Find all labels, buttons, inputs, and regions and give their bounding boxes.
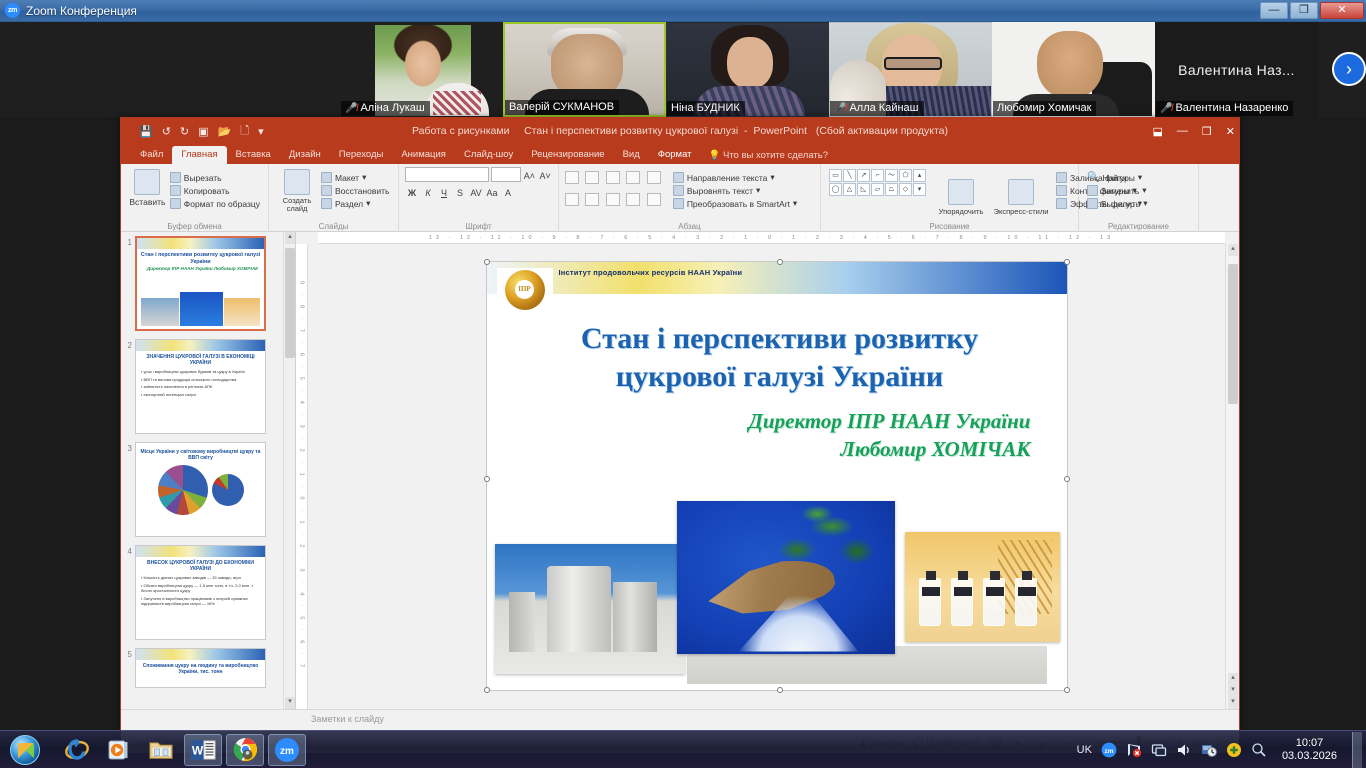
institute-logo: ІПР [497, 268, 553, 312]
notes-pane[interactable]: Заметки к слайду [121, 709, 1239, 731]
app-name: PowerPoint [753, 125, 807, 137]
chevron-down-icon: ▾ [1143, 198, 1147, 209]
decor-tank [613, 582, 657, 652]
tab-review[interactable]: Рецензирование [522, 146, 613, 164]
group-label-clipboard: Буфер обмена [121, 222, 268, 231]
redo-icon[interactable]: ↻ [180, 125, 189, 138]
language-indicator[interactable]: UK [1077, 744, 1092, 756]
screen: zm Zoom Конференция — ❐ ✕ 🎤̸ Аліна Лукаш [0, 0, 1366, 768]
decor-bottle [919, 578, 941, 626]
participant-tile-alla[interactable]: 🎤̸ Алла Кайнаш [829, 22, 992, 117]
decor-bottle [983, 578, 1005, 626]
logo-text: ІПР [515, 280, 534, 299]
antivirus-icon[interactable] [1226, 742, 1242, 758]
lightbulb-icon: 💡 [709, 150, 721, 161]
sugar-plant-photo[interactable] [495, 544, 685, 674]
select-label: Выделить [1101, 199, 1140, 209]
clock-time: 10:07 [1282, 737, 1337, 750]
shape-arrow[interactable]: ↗ [857, 169, 870, 182]
zoom-tray-icon[interactable]: zm [1101, 742, 1117, 758]
thumbnail-number: 2 [123, 339, 135, 350]
scroll-down-icon[interactable]: ▾ [285, 697, 295, 709]
tell-me-label: Что вы хотите сделать? [723, 150, 828, 161]
slide-subtitle[interactable]: Директор ІПР НААН України Любомир ХОМІЧА… [749, 407, 1031, 463]
arrange-label: Упорядочить [939, 207, 984, 216]
align-center-icon[interactable] [585, 193, 599, 206]
chevron-down-icon: ▾ [770, 172, 774, 183]
zoom-title-bar: zm Zoom Конференция — ❐ ✕ [0, 0, 1366, 22]
network-error-icon[interactable] [1126, 742, 1142, 758]
increase-font-size-icon[interactable]: A˄ [523, 168, 537, 182]
ribbon-group-paragraph: Направление текста ▾ Выровнять текст ▾ П… [559, 164, 821, 232]
sugar-beet-photo[interactable] [677, 501, 895, 654]
ribbon-group-clipboard: Вставить Вырезать Копировать Формат по о… [121, 164, 269, 232]
group-label-font: Шрифт [399, 222, 558, 231]
text-direction-icon [673, 172, 684, 183]
layout-label: Макет [335, 173, 359, 183]
text-direction-label: Направление текста [687, 173, 768, 183]
thumbnail-banner [136, 649, 265, 660]
participant-namebar: Валерій СУКМАНОВ [505, 100, 619, 115]
participant-tile-valentina[interactable]: Валентина Наз... 🎤̸ Валентина Назаренко [1155, 22, 1318, 117]
thumbnail-row-5[interactable]: 5 Споживання цукру на людину та виробниц… [123, 648, 295, 688]
participant-name: Валерій СУКМАНОВ [509, 101, 614, 113]
svg-text:W: W [192, 743, 204, 757]
slide-thumbnail-1[interactable]: Стан і перспективи розвитку цукрової гал… [135, 236, 266, 331]
format-painter-button[interactable]: Формат по образцу [168, 197, 262, 210]
shape-scroll-up[interactable]: ▴ [913, 169, 926, 182]
reset-icon [321, 185, 332, 196]
tab-animations[interactable]: Анимация [392, 146, 455, 164]
tab-transitions[interactable]: Переходы [330, 146, 393, 164]
justify-icon[interactable] [626, 193, 640, 206]
powerpoint-title-bar: 💾 ↺ ↻ ▣ 📂 🗋 ▾ Работа с рисунками Стан і … [121, 118, 1239, 144]
thumbnail-images [141, 292, 260, 326]
change-case-button[interactable]: Aa [485, 185, 499, 199]
logo-circle: ІПР [505, 270, 545, 310]
arrange-button[interactable]: Упорядочить [934, 177, 988, 216]
thumbnail-row-2[interactable]: 2 ЗНАЧЕННЯ ЦУКРОВОЇ ГАЛУЗІ В ЕКОНОМІЦІ У… [123, 339, 295, 434]
mute-icon: 🎤̸ [345, 103, 357, 114]
shape-diamond[interactable]: ◇ [899, 183, 912, 196]
section-label: Раздел [335, 199, 363, 209]
decor-face [727, 37, 773, 89]
pie-chart-large [158, 465, 208, 515]
shape-scroll-down[interactable]: ▾ [913, 183, 926, 196]
section-button[interactable]: Раздел ▾ [319, 197, 391, 210]
chevron-down-icon: ▾ [362, 172, 366, 183]
participant-display-name: Валентина Наз... [1178, 62, 1295, 78]
shape-rectangle[interactable]: ▭ [829, 169, 842, 182]
svg-text:zm: zm [280, 746, 294, 757]
thumbnail-bullets: Кількість діючих цукрових заводів — 33 з… [141, 575, 260, 607]
tab-view[interactable]: Вид [614, 146, 649, 164]
zoom-icon[interactable]: zm [268, 734, 306, 766]
decrease-indent-icon[interactable] [606, 171, 620, 184]
slide-subtitle-line2: Любомир ХОМІЧАК [749, 435, 1031, 463]
selection-handle[interactable] [484, 687, 490, 693]
italic-button[interactable]: К [421, 185, 435, 199]
zoom-window-title: Zoom Конференция [26, 4, 137, 18]
quick-styles-label: Экспресс-стили [994, 207, 1049, 216]
scissors-icon [170, 172, 181, 183]
align-text-icon [673, 185, 684, 196]
thumbnail-bullet: Кількість діючих цукрових заводів — 33 з… [141, 575, 260, 581]
shape-oval[interactable]: ◯ [829, 183, 842, 196]
participant-namebar: Любомир Хомичак [993, 101, 1096, 116]
picture-tools-label: Работа с рисунками [412, 125, 509, 137]
windows-start-icon[interactable] [2, 733, 48, 767]
powerpoint-window-controls: ⬓ — ❐ ✕ [1153, 125, 1236, 138]
participant-namebar: Ніна БУДНИК [667, 101, 745, 116]
copy-icon [170, 185, 181, 196]
thumbnail-banner [136, 546, 265, 557]
arrange-icon [948, 179, 974, 205]
volume-icon[interactable] [1176, 742, 1192, 758]
zoom-window-controls: — ❐ ✕ [1260, 2, 1364, 19]
thumb-photo-products [224, 298, 260, 326]
thumbnail-number: 5 [123, 648, 135, 659]
thumbnail-row-3[interactable]: 3 Місце України у світовому виробництві … [123, 442, 295, 537]
decor-tank [547, 566, 611, 652]
cut-button[interactable]: Вырезать [168, 171, 262, 184]
thumbnail-heading: Місце України у світовому виробництві цу… [140, 449, 261, 461]
current-slide[interactable]: ІПР Інститут продовольчих ресурсів НААН … [487, 262, 1067, 690]
zoom-logo-icon: zm [5, 3, 20, 18]
shape-outline-icon [1056, 185, 1067, 196]
selection-handle[interactable] [1064, 476, 1070, 482]
system-tray: UK zm [1077, 732, 1366, 768]
thumbnail-row-4[interactable]: 4 ВНЕСОК ЦУКРОВОЇ ГАЛУЗІ ДО ЕКОНОМІКИ УК… [123, 545, 295, 640]
previous-slide-icon[interactable]: ▴ [1228, 673, 1238, 685]
shape-connector[interactable]: ⌐ [871, 169, 884, 182]
ribbon-group-editing: 🔍 Найти Заменить ▾ Выделить ▾ Редактиров… [1079, 164, 1199, 232]
chevron-down-icon: ▾ [1142, 185, 1146, 196]
participant-namebar: 🎤̸ Валентина Назаренко [1156, 101, 1293, 116]
open-icon[interactable]: 📂 [218, 125, 232, 138]
quick-access-toolbar: 💾 ↺ ↻ ▣ 📂 🗋 ▾ [121, 122, 264, 141]
section-icon [321, 198, 332, 209]
slide-title[interactable]: Стан і перспективи розвитку цукрової гал… [511, 320, 1049, 396]
decor-bottle [951, 578, 973, 626]
slide-vertical-scrollbar[interactable]: ▴ ▴ ▾ ▾ [1225, 244, 1239, 709]
mute-icon: 🎤̸ [1160, 103, 1172, 114]
slide-thumbnail-4[interactable]: ВНЕСОК ЦУКРОВОЇ ГАЛУЗІ ДО ЕКОНОМІКИ УКРА… [135, 545, 266, 640]
shadow-button[interactable]: S [453, 185, 467, 199]
thumbnail-subtitle: Директор ІПР НААН України Любомир ХОМІЧА… [137, 266, 258, 272]
select-button[interactable]: Выделить ▾ [1085, 197, 1192, 210]
participant-namebar: 🎤̸ Аліна Лукаш [341, 101, 430, 116]
google-chrome-icon[interactable] [226, 734, 264, 766]
chevron-down-icon: ▾ [793, 198, 797, 209]
ribbon-tab-bar: Файл Главная Вставка Дизайн Переходы Ани… [121, 144, 1239, 164]
tab-slideshow[interactable]: Слайд-шоу [455, 146, 522, 164]
participant-namebar: 🎤̸ Алла Кайнаш [830, 101, 924, 116]
document-name: Стан і перспективи розвитку цукрової гал… [524, 125, 738, 137]
thumbnail-bullet: зайнятість населення в регіонах АПК [141, 384, 260, 390]
chevron-down-icon: ▾ [756, 185, 760, 196]
windows-taskbar: W [0, 730, 1366, 768]
tab-home[interactable]: Главная [172, 146, 226, 164]
zoom-close-button[interactable]: ✕ [1320, 2, 1364, 19]
powerpoint-minimize-button[interactable]: — [1177, 125, 1188, 138]
thumbnail-bullet: урок і виробництво цукрових буряків та ц… [141, 369, 260, 375]
decor-glasses [884, 57, 942, 70]
slide-editor[interactable]: 13 · 12 · 11 · 10 · 9 · 8 · 7 · 6 · 5 · … [296, 232, 1239, 709]
shape-parallelogram[interactable]: ▱ [871, 183, 884, 196]
participant-name: Аліна Лукаш [360, 102, 424, 114]
replace-icon [1087, 185, 1098, 196]
thumbnail-bullet: Залучено в виробництво працівників з гал… [141, 596, 260, 607]
thumbnail-bullets: урок і виробництво цукрових буряків та ц… [141, 369, 260, 397]
replace-label: Заменить [1101, 186, 1139, 196]
slide-thumbnail-panel[interactable]: 1 Стан і перспективи розвитку цукрової г… [121, 232, 296, 709]
shape-triangle[interactable]: △ [843, 183, 856, 196]
bullets-icon[interactable] [565, 171, 579, 184]
scrollbar-thumb[interactable] [1228, 264, 1238, 404]
activation-status: (Сбой активации продукта) [816, 125, 948, 137]
selection-handle[interactable] [1064, 259, 1070, 265]
quick-styles-icon [1008, 179, 1034, 205]
thumbnail-number: 3 [123, 442, 135, 453]
tab-insert[interactable]: Вставка [227, 146, 280, 164]
participant-strip: 🎤̸ Аліна Лукаш Валерій СУКМАНОВ [0, 22, 1366, 117]
powerpoint-window: 💾 ↺ ↻ ▣ 📂 🗋 ▾ Работа с рисунками Стан і … [120, 117, 1240, 730]
scroll-down-icon[interactable]: ▾ [1228, 697, 1238, 709]
decor-embroidery [433, 91, 481, 115]
powerpoint-close-button[interactable]: ✕ [1226, 125, 1235, 138]
mute-icon: 🎤̸ [834, 103, 846, 114]
paste-label: Вставить [129, 197, 165, 207]
participant-name: Валентина Назаренко [1175, 102, 1288, 114]
ribbon-group-font: A˄ A˅ Ж К Ч S AV Aa A Шрифт [399, 164, 559, 232]
group-label-slides: Слайды [269, 222, 398, 231]
font-selector-row: A˄ A˅ [405, 167, 552, 182]
smartart-label: Преобразовать в SmartArt [687, 199, 790, 209]
thumbnail-number: 4 [123, 545, 135, 556]
smartart-icon [673, 198, 684, 209]
undo-icon[interactable]: ↺ [162, 125, 171, 138]
taskbar-items: W [58, 734, 306, 766]
shape-fill-icon [1056, 172, 1067, 183]
participant-tile-valeriy[interactable]: Валерій СУКМАНОВ [503, 22, 666, 117]
underline-button[interactable]: Ч [437, 185, 451, 199]
scroll-up-icon[interactable]: ▴ [285, 232, 295, 244]
scroll-up-icon[interactable]: ▴ [1228, 244, 1238, 256]
tell-me-search[interactable]: 💡 Что вы хотите сделать? [701, 147, 837, 164]
group-label-drawing: Рисование [821, 222, 1078, 231]
thumbnail-charts [136, 465, 265, 515]
font-color-icon[interactable]: A [501, 185, 515, 199]
new-slide-icon [284, 169, 310, 195]
participant-tile-lyubomyr[interactable]: Любомир Хомичак [992, 22, 1155, 117]
select-icon [1087, 198, 1098, 209]
decor-tank [509, 592, 535, 652]
layout-button[interactable]: Макет ▾ [319, 171, 391, 184]
shape-trapezoid[interactable]: ⏢ [885, 183, 898, 196]
copy-label: Копировать [184, 186, 230, 196]
thumbnail-title: Стан і перспективи розвитку цукрової гал… [137, 252, 264, 265]
pie-chart-small [212, 474, 244, 506]
horizontal-ruler: 13 · 12 · 11 · 10 · 9 · 8 · 7 · 6 · 5 · … [318, 232, 1225, 244]
microsoft-word-icon[interactable]: W [184, 734, 222, 766]
internet-explorer-icon[interactable] [58, 734, 96, 766]
new-icon[interactable]: 🗋 [240, 122, 249, 141]
reset-label: Восстановить [335, 186, 389, 196]
tab-file[interactable]: Файл [131, 146, 172, 164]
chevron-down-icon: ▾ [366, 198, 370, 209]
thumb-photo-beet [180, 292, 223, 326]
thumbnail-bullet: Обсяги виробництва цукру — 1,5 млн тонн,… [141, 583, 260, 594]
shape-right-triangle[interactable]: ◺ [857, 183, 870, 196]
thumbnail-bullet: експортний потенціал галузі [141, 392, 260, 398]
cut-label: Вырезать [184, 173, 222, 183]
slide-subtitle-line1: Директор ІПР НААН України [749, 407, 1031, 435]
decrease-font-size-icon[interactable]: A˅ [538, 168, 552, 182]
new-slide-label: Создать слайд [275, 197, 319, 213]
selection-handle[interactable] [777, 259, 783, 265]
thumbnail-banner [137, 238, 264, 249]
font-style-row: Ж К Ч S AV Aa A [405, 185, 552, 199]
thumbnail-heading: ЗНАЧЕННЯ ЦУКРОВОЇ ГАЛУЗІ В ЕКОНОМІЦІ УКР… [140, 354, 261, 366]
zoom-minimize-button[interactable]: — [1260, 2, 1288, 19]
start-slideshow-icon[interactable]: ▣ [198, 125, 208, 138]
reset-button[interactable]: Восстановить [319, 184, 391, 197]
ribbon-display-options-icon[interactable]: ⬓ [1153, 125, 1163, 138]
start-orb [10, 735, 40, 765]
utility-icon[interactable] [1251, 742, 1267, 758]
update-icon[interactable] [1201, 742, 1217, 758]
thumbnail-heading: Споживання цукру на людину та виробництв… [140, 663, 261, 675]
slide-title-line2: цукрової галузі України [511, 358, 1049, 396]
slide-photo-group [487, 519, 1067, 684]
layout-icon [321, 172, 332, 183]
replace-button[interactable]: Заменить ▾ [1085, 184, 1192, 197]
group-label-editing: Редактирование [1079, 222, 1198, 231]
save-icon[interactable]: 💾 [139, 125, 153, 138]
numbering-icon[interactable] [585, 171, 599, 184]
convert-to-smartart-button[interactable]: Преобразовать в SmartArt ▾ [671, 197, 799, 210]
shape-curve[interactable]: 〜 [885, 169, 898, 182]
slide-header-banner [487, 262, 1067, 294]
participant-name: Любомир Хомичак [997, 102, 1091, 114]
clock[interactable]: 10:07 03.03.2026 [1276, 737, 1343, 763]
slide-thumbnail-3[interactable]: Місце України у світовому виробництві цу… [135, 442, 266, 537]
participant-tile-nina[interactable]: Ніна БУДНИК [666, 22, 829, 117]
clock-date: 03.03.2026 [1282, 750, 1337, 763]
vertical-ruler: 9 · 8 · 7 · 6 · 5 · 4 · 3 · 2 · 1 · 0 · … [296, 244, 308, 709]
increase-indent-icon[interactable] [626, 171, 640, 184]
scrollbar-thumb[interactable] [285, 248, 295, 358]
participant-tile-alina[interactable]: 🎤̸ Аліна Лукаш [340, 22, 503, 117]
tab-format[interactable]: Формат [649, 146, 701, 164]
thumbnail-scrollbar[interactable]: ▴ ▾ [283, 232, 295, 709]
thumbnail-bullet: ВВП та валова продукція сільського госпо… [141, 377, 260, 383]
shape-polygon[interactable]: ⬠ [899, 169, 912, 182]
powerpoint-restore-button[interactable]: ❐ [1202, 125, 1212, 138]
powerpoint-work-area: 1 Стан і перспективи розвитку цукрової г… [121, 232, 1239, 709]
thumbnail-number: 1 [123, 236, 135, 247]
slide-thumbnail-2[interactable]: ЗНАЧЕННЯ ЦУКРОВОЇ ГАЛУЗІ В ЕКОНОМІЦІ УКР… [135, 339, 266, 434]
decor-bottle [1015, 578, 1037, 626]
show-desktop-button[interactable] [1352, 732, 1362, 768]
quick-styles-button[interactable]: Экспресс-стили [992, 177, 1050, 216]
selection-handle[interactable] [484, 259, 490, 265]
action-center-icon[interactable] [1151, 742, 1167, 758]
ribbon-group-slides: Создать слайд Макет ▾ Восстановить Разде [269, 164, 399, 232]
shape-line[interactable]: ╲ [843, 169, 856, 182]
chevron-right-icon[interactable]: › [1332, 52, 1366, 86]
format-painter-icon [170, 198, 181, 209]
powerpoint-document-title: Работа с рисунками Стан і перспективи ро… [121, 125, 1239, 137]
thumbnail-heading: ВНЕСОК ЦУКРОВОЇ ГАЛУЗІ ДО ЕКОНОМІКИ УКРА… [140, 560, 261, 572]
align-right-icon[interactable] [606, 193, 620, 206]
svg-text:zm: zm [1104, 748, 1113, 755]
shape-effects-icon [1056, 198, 1067, 209]
tab-design[interactable]: Дизайн [280, 146, 330, 164]
group-label-paragraph: Абзац [559, 222, 820, 231]
thumbnail-row-1[interactable]: 1 Стан і перспективи розвитку цукрової г… [123, 236, 295, 331]
participant-name: Алла Кайнаш [849, 102, 918, 114]
character-spacing-button[interactable]: AV [469, 185, 483, 199]
line-spacing-icon[interactable] [647, 171, 661, 184]
thumb-photo-plant [141, 298, 179, 326]
selection-handle[interactable] [484, 476, 490, 482]
find-button[interactable]: 🔍 Найти [1085, 171, 1192, 184]
copy-button[interactable]: Копировать [168, 184, 262, 197]
font-name-input[interactable] [405, 167, 489, 182]
decor-head [1037, 31, 1103, 99]
columns-icon[interactable] [647, 193, 661, 206]
align-text-button[interactable]: Выровнять текст ▾ [671, 184, 799, 197]
selection-handle[interactable] [777, 687, 783, 693]
institute-name: Інститут продовольчих ресурсів НААН Укра… [559, 268, 743, 277]
thumbnail-banner [136, 340, 265, 351]
customize-quick-access-icon[interactable]: ▾ [258, 125, 264, 138]
selection-handle[interactable] [1064, 687, 1070, 693]
find-label: Найти [1102, 173, 1126, 183]
slide-title-line1: Стан і перспективи розвитку [511, 320, 1049, 358]
align-text-label: Выровнять текст [687, 186, 753, 196]
file-explorer-icon[interactable] [142, 734, 180, 766]
ribbon: Вставить Вырезать Копировать Формат по о… [121, 164, 1239, 232]
participant-name: Ніна БУДНИК [671, 102, 740, 114]
ribbon-group-drawing: ▭ ╲ ↗ ⌐ 〜 ⬠ ▴ ◯ △ ◺ ▱ ⏢ ◇ ▾ [821, 164, 1079, 232]
bold-button[interactable]: Ж [405, 185, 419, 199]
search-icon: 🔍 [1087, 172, 1099, 183]
font-size-input[interactable] [491, 167, 520, 182]
sugar-products-photo[interactable] [905, 532, 1060, 642]
windows-media-player-icon[interactable] [100, 734, 138, 766]
align-left-icon[interactable] [565, 193, 579, 206]
slide-thumbnail-5[interactable]: Споживання цукру на людину та виробництв… [135, 648, 266, 688]
paste-icon [134, 169, 160, 195]
zoom-maximize-button[interactable]: ❐ [1290, 2, 1318, 19]
text-direction-button[interactable]: Направление текста ▾ [671, 171, 799, 184]
next-slide-icon[interactable]: ▾ [1228, 685, 1238, 697]
format-painter-label: Формат по образцу [184, 199, 260, 209]
